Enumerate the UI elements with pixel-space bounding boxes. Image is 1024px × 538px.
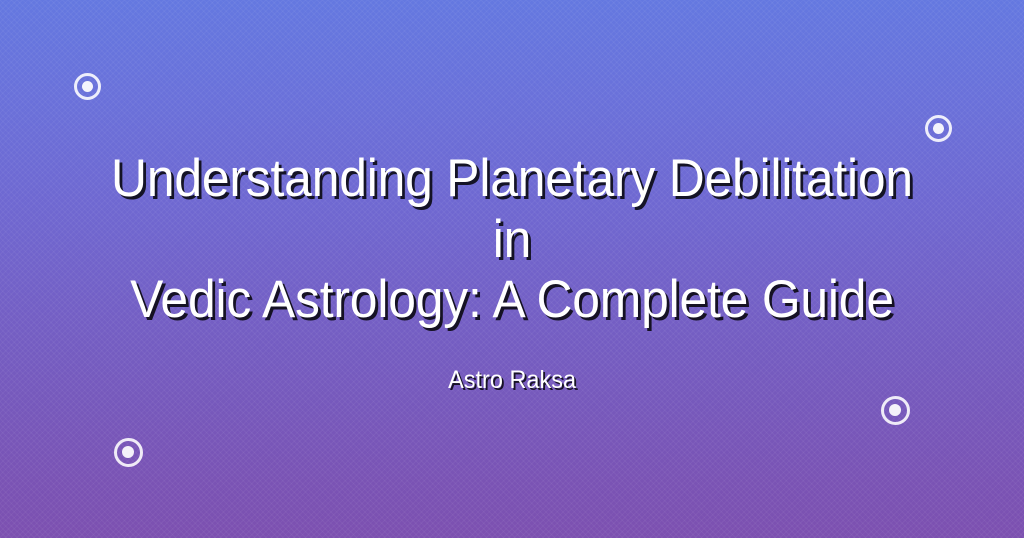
page-title: Understanding Planetary Debilitation in …	[98, 149, 925, 330]
title-slide: Understanding Planetary Debilitation in …	[0, 0, 1024, 538]
slide-content: Understanding Planetary Debilitation in …	[0, 0, 1024, 538]
slide-subtitle-author: Astro Raksa	[448, 365, 576, 395]
